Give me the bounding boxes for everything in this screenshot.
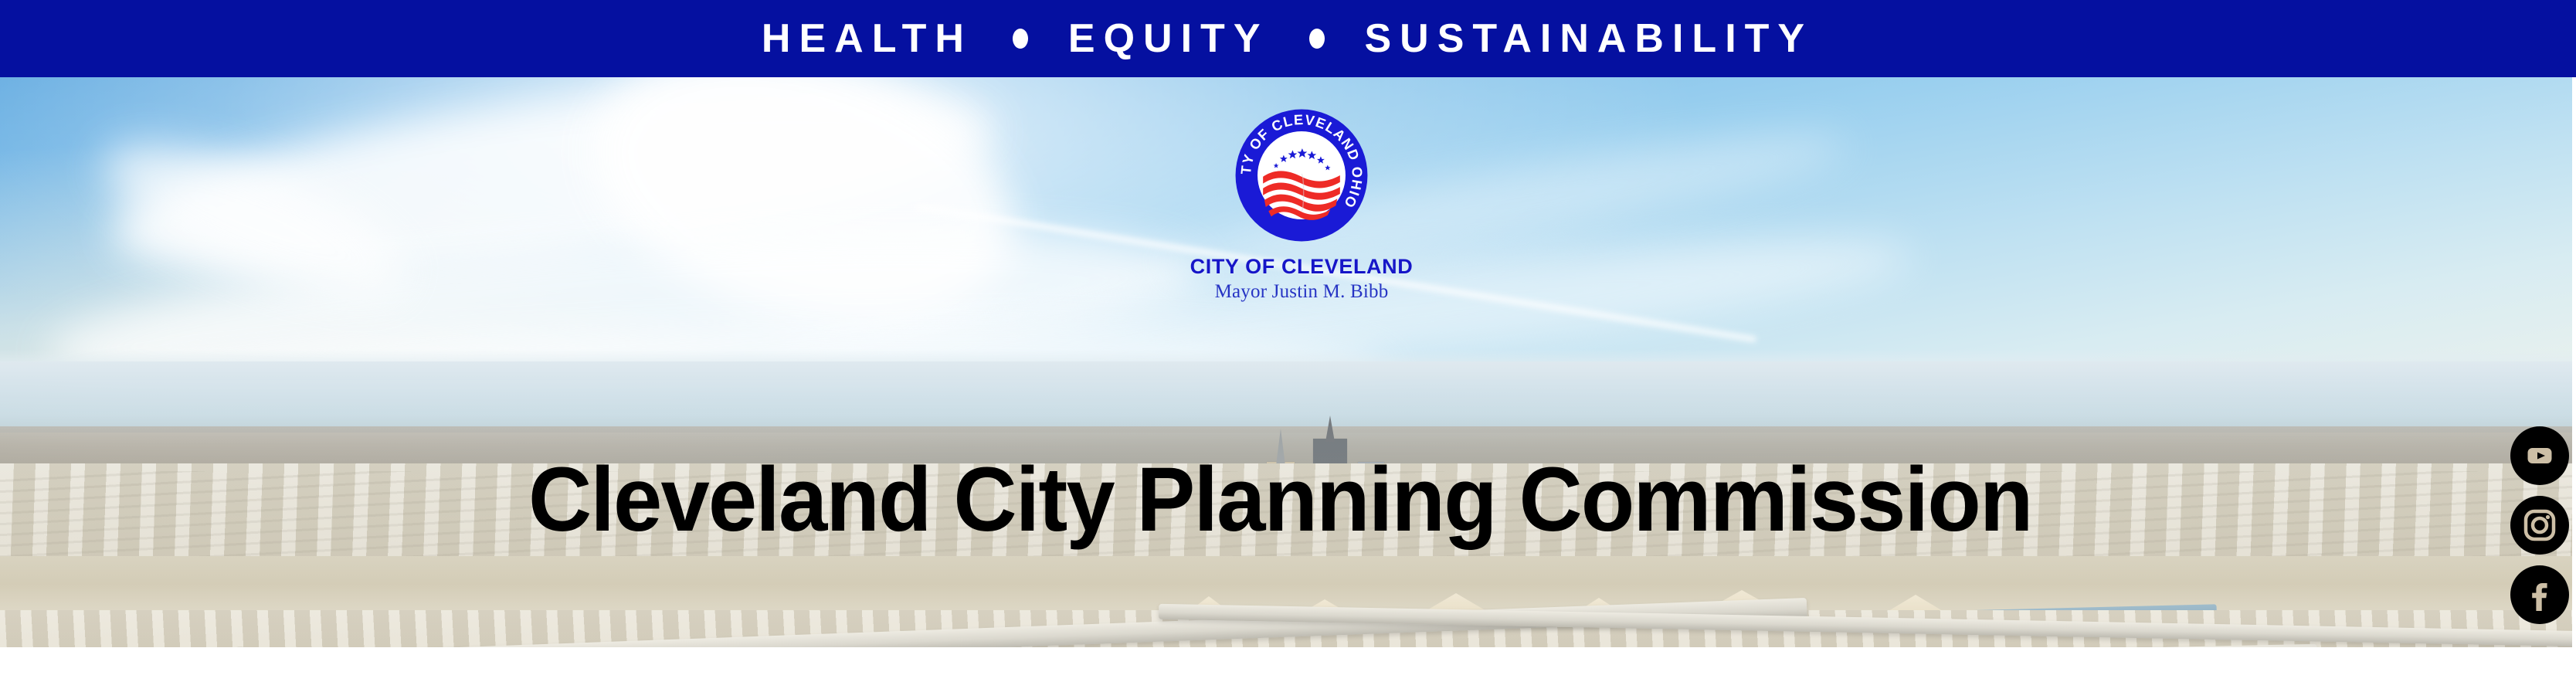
tagline-bullet-icon [1309,29,1325,49]
tagline-word-sustainability: SUSTAINABILITY [1365,19,1814,59]
tagline-word-equity: EQUITY [1068,19,1269,59]
tagline-bullet-icon [1013,29,1028,49]
right-edge-margin [2572,77,2576,647]
city-name-label: CITY OF CLEVELAND [1151,255,1452,278]
city-of-cleveland-seal-icon: CITY OF CLEVELAND OHIO [1233,107,1370,244]
page-title: Cleveland City Planning Commission [39,454,2521,545]
city-logo-block: CITY OF CLEVELAND OHIO [1151,91,1452,303]
social-media-rail [2510,426,2569,624]
tagline-banner: HEALTH EQUITY SUSTAINABILITY [0,0,2576,77]
youtube-icon[interactable] [2510,426,2569,485]
tagline-word-health: HEALTH [762,19,972,59]
instagram-icon[interactable] [2510,496,2569,555]
tagline-inner: HEALTH EQUITY SUSTAINABILITY [762,19,1813,59]
mayor-name-label: Mayor Justin M. Bibb [1151,281,1452,303]
page-root: HEALTH EQUITY SUSTAINABILITY [0,0,2576,682]
facebook-icon[interactable] [2510,565,2569,624]
